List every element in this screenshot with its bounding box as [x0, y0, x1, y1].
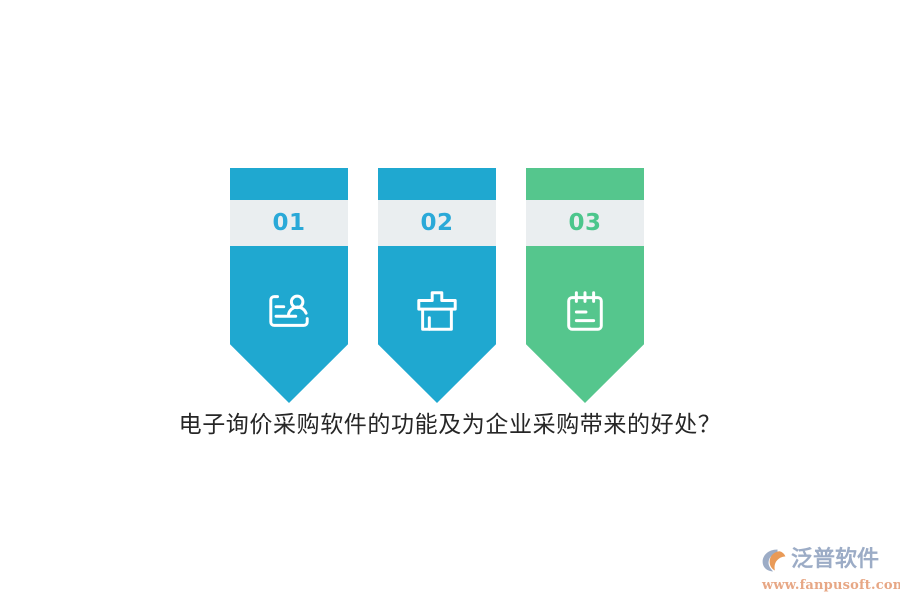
fanpu-logo-icon — [760, 546, 788, 574]
banner-number-label: 01 — [272, 212, 305, 235]
banner-02[interactable]: 02 — [378, 168, 496, 403]
banner-top-strip — [526, 168, 644, 200]
banner-top-strip — [378, 168, 496, 200]
banner-number-label: 02 — [420, 212, 453, 235]
page-title: 电子询价采购软件的功能及为企业采购带来的好处？ — [0, 412, 900, 440]
banner-01[interactable]: 01 — [230, 168, 348, 403]
banner-body — [526, 246, 644, 403]
banner-body — [378, 246, 496, 403]
banner-row: 01 02 — [230, 168, 670, 408]
watermark-logo: 泛普软件 www.fanpusoft.com — [760, 538, 892, 592]
poster-canvas: 01 02 — [0, 0, 900, 600]
watermark-url: www.fanpusoft.com — [762, 579, 900, 592]
banner-03[interactable]: 03 — [526, 168, 644, 403]
notepad-icon — [562, 288, 608, 334]
banner-body — [230, 246, 348, 403]
storefront-icon — [414, 288, 460, 334]
id-card-icon — [266, 288, 312, 334]
banner-number-band: 02 — [378, 200, 496, 246]
banner-number-band: 03 — [526, 200, 644, 246]
watermark-brand-name: 泛普软件 — [791, 549, 879, 571]
banner-top-strip — [230, 168, 348, 200]
watermark-brand-row: 泛普软件 — [760, 544, 879, 576]
banner-number-band: 01 — [230, 200, 348, 246]
banner-number-label: 03 — [568, 212, 601, 235]
